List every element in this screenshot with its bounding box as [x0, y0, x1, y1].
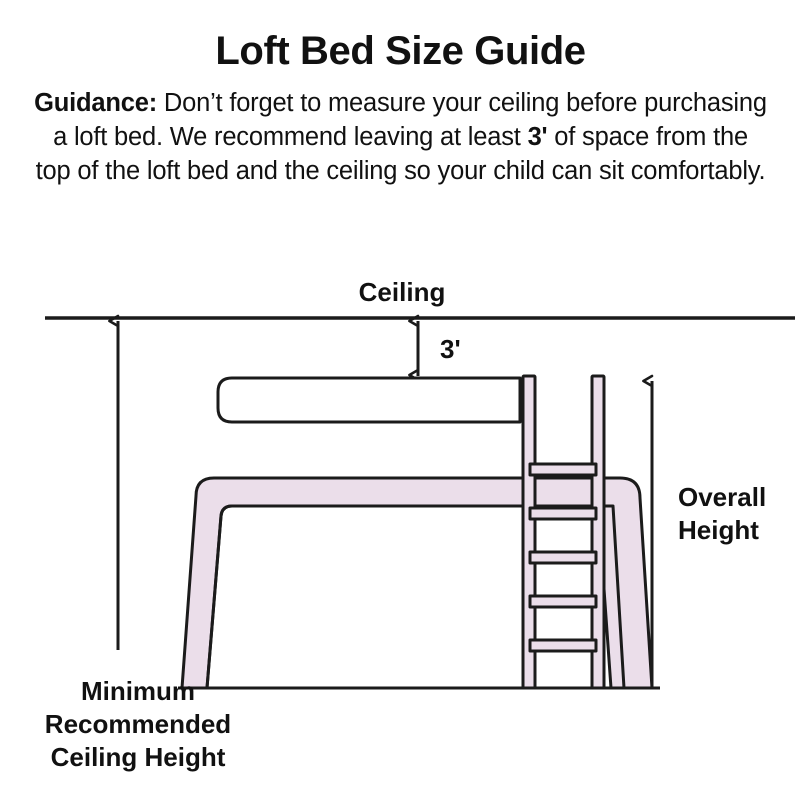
ladder-rung	[530, 552, 596, 563]
min-ceiling-label-line1: Minimum	[81, 676, 195, 706]
guidance-lead-label: Guidance:	[34, 89, 157, 117]
clearance-label: 3'	[440, 334, 461, 364]
ladder-rung	[530, 464, 596, 475]
ladder-rung	[530, 640, 596, 651]
ceiling-label: Ceiling	[359, 277, 446, 307]
min-ceiling-label-line3: Ceiling Height	[51, 742, 226, 772]
overall-height-label-line2: Height	[678, 515, 759, 545]
header-block: Loft Bed Size Guide Guidance: Don’t forg…	[0, 0, 801, 188]
loft-bed-size-guide-page: Loft Bed Size Guide Guidance: Don’t forg…	[0, 0, 801, 800]
ladder-rung	[530, 508, 596, 519]
guidance-paragraph: Guidance: Don’t forget to measure your c…	[33, 73, 769, 188]
ladder-rung	[530, 596, 596, 607]
guidance-measurement: 3'	[528, 123, 548, 151]
min-ceiling-label-line2: Recommended	[45, 709, 231, 739]
bed-mattress	[218, 378, 520, 422]
overall-height-label-line1: Overall	[678, 482, 766, 512]
page-title: Loft Bed Size Guide	[0, 0, 801, 73]
loft-bed-diagram: Ceiling 3' Overall Heig	[0, 258, 801, 800]
